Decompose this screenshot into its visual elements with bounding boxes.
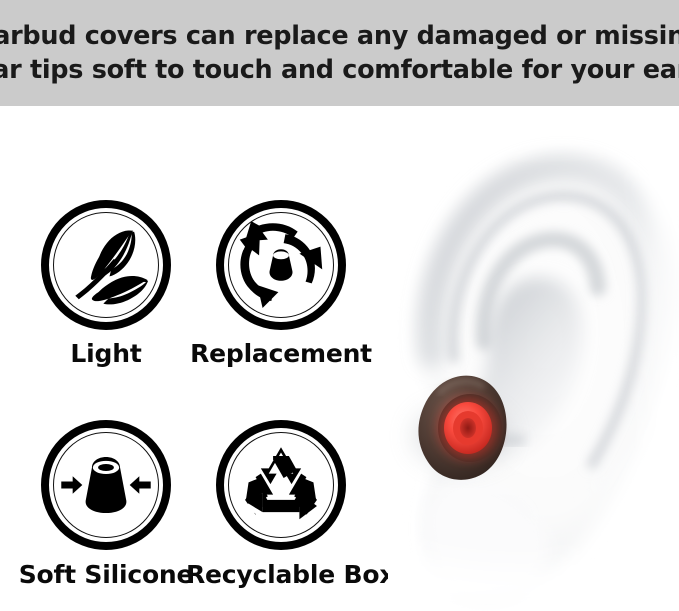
feature-icon-ring — [41, 200, 171, 330]
feature-label: Recyclable Box — [186, 560, 376, 590]
ear-product-photo — [388, 106, 679, 611]
feather-icon — [49, 208, 163, 322]
product-infographic: Earbud covers can replace any damaged or… — [0, 0, 679, 611]
feature-icon-ring — [41, 420, 171, 550]
header-banner: Earbud covers can replace any damaged or… — [0, 0, 679, 106]
feature-label: Soft Silicone — [11, 560, 201, 590]
feature-recyclable-box: Recyclable Box — [186, 420, 376, 590]
headline-line-1: Earbud covers can replace any damaged or… — [0, 19, 679, 53]
feature-replacement: Replacement — [186, 200, 376, 369]
feature-soft-silicone: Soft Silicone — [11, 420, 201, 590]
headline-line-2: ear tips soft to touch and comfortable f… — [0, 53, 679, 87]
eartip-bore — [460, 418, 476, 438]
feature-light: Light — [11, 200, 201, 369]
feature-label: Replacement — [186, 339, 376, 369]
recycle-icon — [224, 428, 338, 542]
feature-icon-ring — [216, 420, 346, 550]
eartip-compression-arrows-icon — [49, 428, 163, 542]
feature-icon-ring — [216, 200, 346, 330]
feature-grid: Light — [0, 106, 400, 611]
feature-label: Light — [11, 339, 201, 369]
replacement-arrows-eartip-icon — [224, 208, 338, 322]
ear-illustration — [388, 106, 679, 611]
earbud — [418, 376, 506, 480]
